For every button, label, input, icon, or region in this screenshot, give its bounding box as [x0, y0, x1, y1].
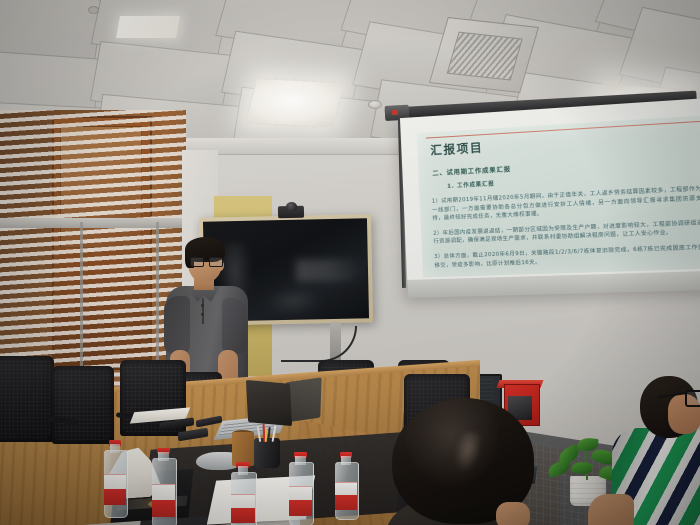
camera-lens-icon	[286, 202, 297, 211]
roll-down-projection-screen: 汇报项目 二、试用期工作成果汇报 1. 工作成果汇报 1）试用期2019年11月…	[400, 98, 700, 298]
attendee-arm	[588, 494, 634, 525]
glasses-icon	[190, 257, 222, 266]
water-bottle[interactable]	[152, 448, 175, 525]
screen-reflection	[264, 285, 323, 316]
presenter-sleeve	[164, 296, 190, 354]
wooden-cup	[232, 432, 254, 466]
slide-title-rule	[426, 121, 700, 139]
conference-room-photo: 汇报项目 二、试用期工作成果汇报 1. 工作成果汇报 1）试用期2019年11月…	[0, 0, 700, 525]
screen-reflection	[296, 258, 362, 281]
mesh-office-chair[interactable]	[52, 366, 114, 444]
led-panel-light	[116, 16, 180, 38]
sprinkler-head-icon	[88, 6, 99, 14]
right-attendee	[612, 376, 700, 525]
plant-leaf	[547, 459, 572, 478]
foreground-attendee	[392, 398, 542, 525]
slide-paragraph: 1）试用期2019年11月缱2020年5月期间，由于正值年关，工人返乡劳务结算因…	[432, 185, 700, 224]
roller-indicator-icon	[392, 110, 398, 115]
water-bottle[interactable]	[335, 452, 357, 518]
slide-body: 二、试用期工作成果汇报 1. 工作成果汇报 1）试用期2019年11月缱2020…	[430, 154, 700, 271]
bottle-label	[289, 486, 312, 516]
bottle-label	[152, 484, 175, 517]
bottle-label	[335, 482, 357, 510]
shirt-button	[201, 304, 204, 307]
smoke-detector-icon	[368, 100, 382, 109]
water-bottle[interactable]	[104, 440, 126, 516]
shirt-button	[201, 313, 204, 316]
mesh-office-chair[interactable]	[0, 356, 54, 442]
presenter-sleeve	[222, 298, 247, 354]
open-laptop[interactable]	[246, 380, 292, 426]
presentation-slide: 汇报项目 二、试用期工作成果汇报 1. 工作成果汇报 1）试用期2019年11月…	[417, 115, 700, 277]
slide-paragraph: 2）年后国内疫发展返返结，一期部分区域因为受限及生产户籍，对进度影响较大，工程部…	[433, 219, 700, 247]
led-panel-light	[245, 78, 345, 129]
bottle-label	[104, 474, 126, 505]
bottle-label	[231, 494, 255, 523]
plant-leaf	[571, 460, 593, 476]
attendee-hand	[496, 502, 530, 525]
water-bottle[interactable]	[289, 452, 312, 524]
pen-holder	[254, 438, 280, 468]
water-bottle[interactable]	[231, 462, 255, 525]
slide-title: 汇报项目	[430, 139, 483, 158]
presenter-placket	[202, 298, 204, 324]
slide-paragraph: 3）总体方面，截止2020年6月9日，关键路段1/2/3/6/7栋体复旧除完成，…	[434, 243, 700, 270]
hvac-air-diffuser	[429, 17, 539, 93]
glasses-icon	[658, 388, 700, 406]
